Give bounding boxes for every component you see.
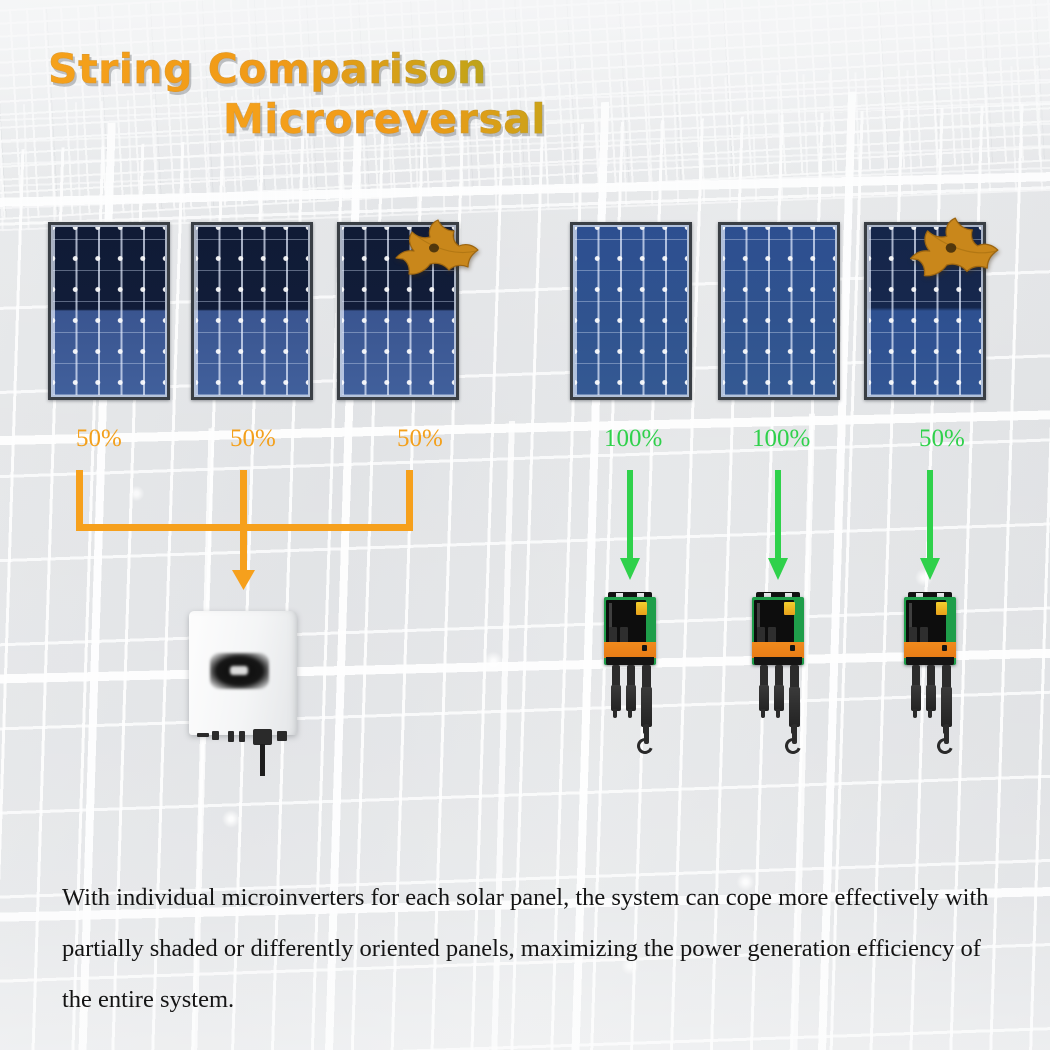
micro-base (906, 657, 954, 665)
mc4-connector-2 (626, 685, 636, 711)
title-line-1: String Comparison (48, 44, 948, 94)
micro-pcb (904, 597, 956, 665)
right-panel-2[interactable] (718, 222, 840, 400)
inverter-connector-5 (277, 731, 287, 741)
inverter-connector-2 (212, 731, 219, 740)
left-panel-1-output: 50% (76, 425, 122, 453)
mc4-connector-2 (774, 685, 784, 711)
micro-junction-box (604, 642, 656, 658)
micro-capacitor-2 (620, 627, 628, 643)
micro-capacitor-2 (768, 627, 776, 643)
micro-capacitor-2 (920, 627, 928, 643)
caption-text: With individual microinverters for each … (62, 872, 1010, 1025)
inverter-ac-port (253, 729, 272, 745)
down-arrow-icon (619, 470, 641, 582)
microinverter-3[interactable] (904, 592, 960, 762)
micro-dc-lead-2 (927, 665, 935, 687)
mc4-connector-1 (759, 685, 769, 711)
title-line-2: Microreversal (223, 94, 948, 144)
micro-dc-lead-1 (612, 665, 620, 687)
micro-cable-loop (634, 735, 655, 756)
inverter-connector-4 (239, 731, 245, 742)
mc4-connector-1 (611, 685, 621, 711)
inverter-connector-1 (197, 733, 209, 737)
ac-trunk-connector (641, 687, 652, 727)
panel-cell-dots (53, 227, 165, 395)
string-inverter[interactable] (189, 611, 297, 771)
right-panel-3-output: 50% (919, 425, 965, 453)
ac-trunk-connector (941, 687, 952, 727)
string-bus-drop (240, 524, 247, 576)
inverter-display (210, 653, 269, 689)
leaf-icon (388, 218, 480, 280)
micro-dc-lead-2 (775, 665, 783, 687)
micro-junction-box (904, 642, 956, 658)
micro-base (606, 657, 654, 665)
left-panel-2-output: 50% (230, 425, 276, 453)
right-panel-1-output: 100% (604, 425, 662, 453)
string-bus-stub-2 (240, 470, 247, 530)
microinverter-2[interactable] (752, 592, 808, 762)
micro-dc-lead-1 (760, 665, 768, 687)
micro-base (754, 657, 802, 665)
micro-pcb (752, 597, 804, 665)
micro-dc-lead-1 (912, 665, 920, 687)
micro-capacitor-1 (609, 627, 617, 643)
left-panel-3-output: 50% (397, 425, 443, 453)
inverter-output-cable (260, 744, 265, 776)
left-panel-1[interactable] (48, 222, 170, 400)
micro-cable-loop (934, 735, 955, 756)
micro-ac-lead (942, 665, 951, 689)
string-bus-stub-1 (76, 470, 83, 530)
page-title: String Comparison Microreversal (48, 44, 948, 144)
inverter-connector-3 (228, 731, 234, 742)
panel-cell-dots (196, 227, 308, 395)
micro-cable-loop (782, 735, 803, 756)
down-arrow-icon (767, 470, 789, 582)
micro-rating-label (784, 602, 795, 615)
ac-trunk-connector (789, 687, 800, 727)
panel-cell-dots (575, 227, 687, 395)
micro-junction-box (752, 642, 804, 658)
mc4-connector-2 (926, 685, 936, 711)
panel-cell-dots (723, 227, 835, 395)
left-panel-2[interactable] (191, 222, 313, 400)
micro-pcb (604, 597, 656, 665)
down-arrow-icon (919, 470, 941, 582)
micro-rating-label (936, 602, 947, 615)
string-bus-stub-3 (406, 470, 413, 530)
micro-capacitor-1 (909, 627, 917, 643)
leaf-icon (902, 216, 1000, 282)
micro-capacitor-1 (757, 627, 765, 643)
mc4-connector-1 (911, 685, 921, 711)
microinverter-1[interactable] (604, 592, 660, 762)
down-arrow-icon (232, 570, 255, 592)
micro-rating-label (636, 602, 647, 615)
right-panel-2-output: 100% (752, 425, 810, 453)
micro-ac-lead (642, 665, 651, 689)
micro-dc-lead-2 (627, 665, 635, 687)
right-panel-1[interactable] (570, 222, 692, 400)
diagram-canvas: String Comparison Microreversal (0, 0, 1050, 1050)
micro-ac-lead (790, 665, 799, 689)
